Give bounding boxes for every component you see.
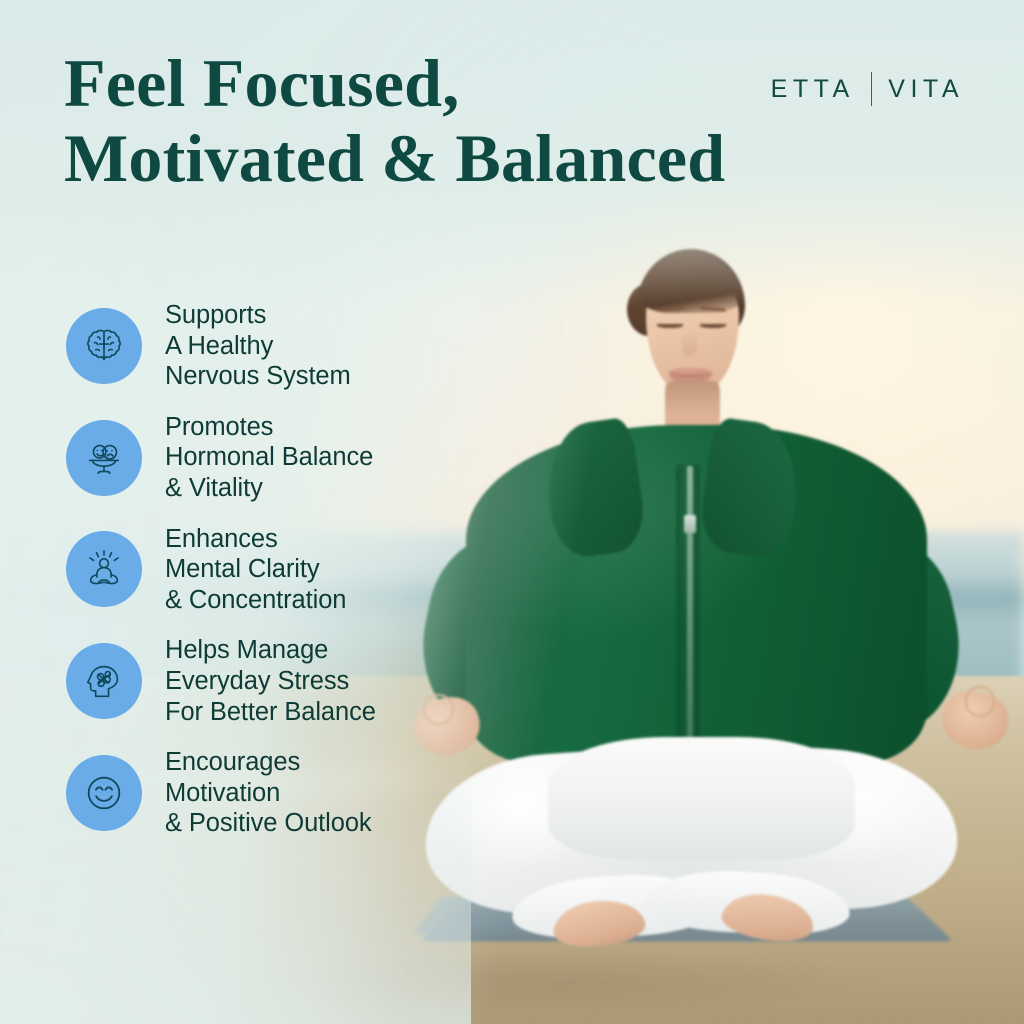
headline-line-1: Feel Focused,	[64, 45, 459, 121]
list-item-label: Encourages Motivation & Positive Outlook	[165, 747, 372, 839]
head-tangled-thoughts-icon	[81, 658, 127, 704]
list-item: Enhances Mental Clarity & Concentration	[66, 524, 376, 616]
page-title: Feel Focused, Motivated & Balanced	[64, 46, 725, 196]
list-item: Encourages Motivation & Positive Outlook	[66, 747, 376, 839]
benefit-icon-badge	[66, 643, 142, 719]
benefit-icon-badge	[66, 531, 142, 607]
benefit-icon-badge	[66, 308, 142, 384]
brain-icon	[81, 323, 127, 369]
headline-line-2: Motivated & Balanced	[64, 121, 725, 196]
list-item: Helps Manage Everyday Stress For Better …	[66, 635, 376, 727]
promotional-poster: ETTA VITA Feel Focused, Motivated & Bala…	[0, 0, 1024, 1024]
list-item-label: Helps Manage Everyday Stress For Better …	[165, 635, 376, 727]
brand-divider-icon	[871, 72, 873, 106]
brand-name-left: ETTA	[771, 75, 855, 104]
smiley-face-icon	[81, 770, 127, 816]
brand-logo: ETTA VITA	[771, 72, 964, 106]
benefit-icon-badge	[66, 420, 142, 496]
list-item-label: Enhances Mental Clarity & Concentration	[165, 524, 346, 616]
list-item: Promotes Hormonal Balance & Vitality	[66, 412, 376, 504]
benefit-icon-badge	[66, 755, 142, 831]
list-item-label: Supports A Healthy Nervous System	[165, 300, 351, 392]
meditating-person-icon	[81, 546, 127, 592]
list-item: Supports A Healthy Nervous System	[66, 300, 376, 392]
balance-scale-faces-icon	[81, 435, 127, 481]
list-item-label: Promotes Hormonal Balance & Vitality	[165, 412, 373, 504]
brand-name-right: VITA	[888, 75, 964, 104]
benefits-list: Supports A Healthy Nervous System	[66, 300, 376, 839]
content-layer: ETTA VITA Feel Focused, Motivated & Bala…	[0, 0, 1024, 1024]
